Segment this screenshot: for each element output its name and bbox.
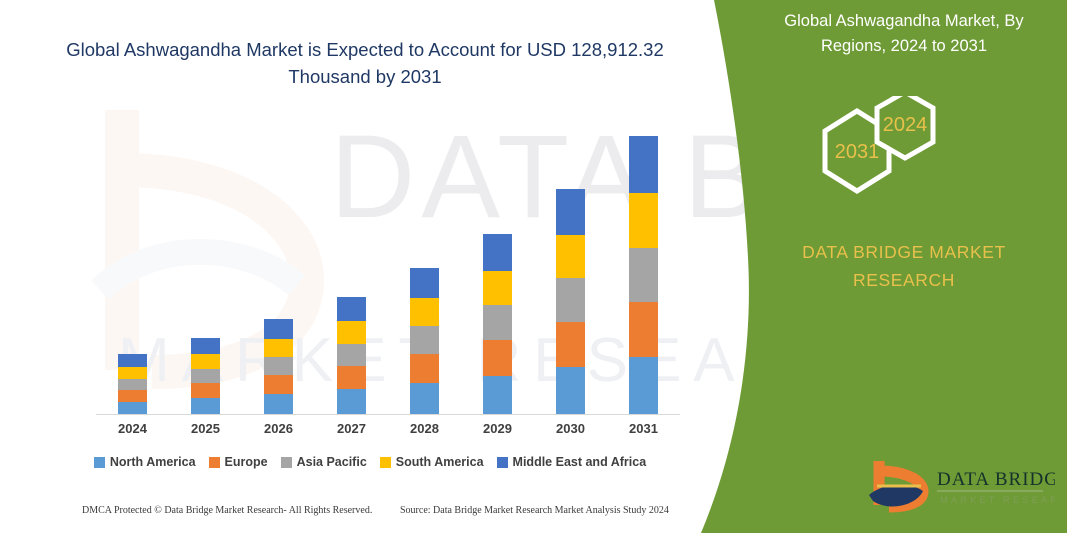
- x-label-2029: 2029: [463, 421, 533, 436]
- bar-2024: [118, 354, 147, 415]
- hexagon-group: 2031 2024: [740, 96, 1067, 206]
- x-axis-tick-labels: 20242025202620272028202920302031: [96, 421, 680, 443]
- legend-swatch-icon: [209, 457, 220, 468]
- bar-segment-middle-east-and-africa: [264, 319, 293, 339]
- bar-segment-asia-pacific: [629, 248, 658, 302]
- green-panel-content: Global Ashwagandha Market, By Regions, 2…: [740, 0, 1067, 533]
- bar-segment-europe: [264, 375, 293, 394]
- legend-item-europe[interactable]: Europe: [209, 455, 268, 469]
- x-label-2030: 2030: [536, 421, 606, 436]
- hexagon-2031-label: 2031: [835, 141, 880, 163]
- bar-segment-north-america: [556, 367, 585, 415]
- bar-2027: [337, 297, 366, 415]
- bar-segment-europe: [337, 366, 366, 389]
- footer-source: Source: Data Bridge Market Research Mark…: [400, 505, 669, 516]
- bar-segment-north-america: [337, 389, 366, 415]
- brand-line-1: DATA BRIDGE MARKET: [766, 238, 1042, 266]
- chart-panel: Global Ashwagandha Market is Expected to…: [0, 0, 740, 533]
- bar-segment-middle-east-and-africa: [483, 234, 512, 271]
- x-label-2025: 2025: [171, 421, 241, 436]
- bar-segment-south-america: [556, 235, 585, 278]
- legend-label: Europe: [225, 455, 268, 469]
- bar-2031: [629, 136, 658, 415]
- legend-label: Asia Pacific: [297, 455, 367, 469]
- bar-segment-middle-east-and-africa: [629, 136, 658, 193]
- bar-segment-middle-east-and-africa: [410, 268, 439, 298]
- bar-segment-europe: [410, 354, 439, 383]
- bar-segment-middle-east-and-africa: [118, 354, 147, 367]
- bar-segment-asia-pacific: [264, 357, 293, 375]
- bar-segment-asia-pacific: [483, 305, 512, 340]
- bar-segment-asia-pacific: [337, 344, 366, 366]
- bar-segment-south-america: [264, 339, 293, 357]
- legend-item-north-america[interactable]: North America: [94, 455, 196, 469]
- page-title: Global Ashwagandha Market is Expected to…: [60, 36, 670, 90]
- logo-text-main: DATA BRIDGE: [937, 469, 1055, 490]
- footer: DMCA Protected © Data Bridge Market Rese…: [0, 505, 740, 525]
- bar-segment-south-america: [191, 354, 220, 369]
- bar-2025: [191, 338, 220, 415]
- bar-segment-north-america: [483, 376, 512, 415]
- x-label-2028: 2028: [390, 421, 460, 436]
- bar-segment-europe: [483, 340, 512, 376]
- bar-2026: [264, 319, 293, 415]
- bar-segment-asia-pacific: [118, 379, 147, 390]
- legend-item-middle-east-and-africa[interactable]: Middle East and Africa: [497, 455, 647, 469]
- bar-segment-europe: [191, 383, 220, 398]
- bar-segment-europe: [556, 322, 585, 367]
- bar-segment-south-america: [337, 321, 366, 344]
- x-label-2026: 2026: [244, 421, 314, 436]
- legend-item-asia-pacific[interactable]: Asia Pacific: [281, 455, 367, 469]
- bar-segment-asia-pacific: [191, 369, 220, 383]
- footer-copyright: DMCA Protected © Data Bridge Market Rese…: [82, 505, 372, 516]
- legend-swatch-icon: [94, 457, 105, 468]
- x-label-2024: 2024: [98, 421, 168, 436]
- bar-segment-asia-pacific: [556, 278, 585, 322]
- chart-legend: North AmericaEuropeAsia PacificSouth Ame…: [0, 455, 740, 469]
- bar-segment-south-america: [483, 271, 512, 305]
- bar-segment-north-america: [629, 357, 658, 415]
- brand-line-2: RESEARCH: [766, 266, 1042, 294]
- bar-segment-middle-east-and-africa: [191, 338, 220, 354]
- data-bridge-logo-icon: DATA BRIDGE MARKET RESEARCH: [865, 455, 1055, 517]
- side-panel-title: Global Ashwagandha Market, By Regions, 2…: [758, 9, 1050, 59]
- brand-name: DATA BRIDGE MARKET RESEARCH: [766, 238, 1042, 294]
- legend-label: North America: [110, 455, 196, 469]
- legend-label: South America: [396, 455, 484, 469]
- bar-chart-plot-area: [96, 120, 680, 415]
- bar-2030: [556, 189, 585, 415]
- bar-segment-south-america: [629, 193, 658, 248]
- bar-segment-middle-east-and-africa: [556, 189, 585, 235]
- legend-swatch-icon: [281, 457, 292, 468]
- bar-segment-north-america: [264, 394, 293, 415]
- legend-swatch-icon: [497, 457, 508, 468]
- legend-swatch-icon: [380, 457, 391, 468]
- legend-item-south-america[interactable]: South America: [380, 455, 484, 469]
- legend-label: Middle East and Africa: [513, 455, 647, 469]
- x-axis-line: [96, 414, 680, 415]
- bar-segment-south-america: [410, 298, 439, 326]
- bar-segment-middle-east-and-africa: [337, 297, 366, 321]
- bar-segment-north-america: [410, 383, 439, 415]
- bar-segment-north-america: [191, 398, 220, 415]
- bar-segment-asia-pacific: [410, 326, 439, 354]
- x-label-2027: 2027: [317, 421, 387, 436]
- bar-2028: [410, 268, 439, 415]
- bar-segment-south-america: [118, 367, 147, 379]
- bar-segment-europe: [118, 390, 147, 402]
- infographic-canvas: DATA BRIDGE MARKET RESEARCH Global Ashwa…: [0, 0, 1067, 533]
- bar-2029: [483, 234, 512, 415]
- logo-text-sub: MARKET RESEARCH: [940, 495, 1055, 506]
- bar-segment-europe: [629, 302, 658, 357]
- x-label-2031: 2031: [609, 421, 679, 436]
- hexagon-2024-label: 2024: [883, 114, 928, 136]
